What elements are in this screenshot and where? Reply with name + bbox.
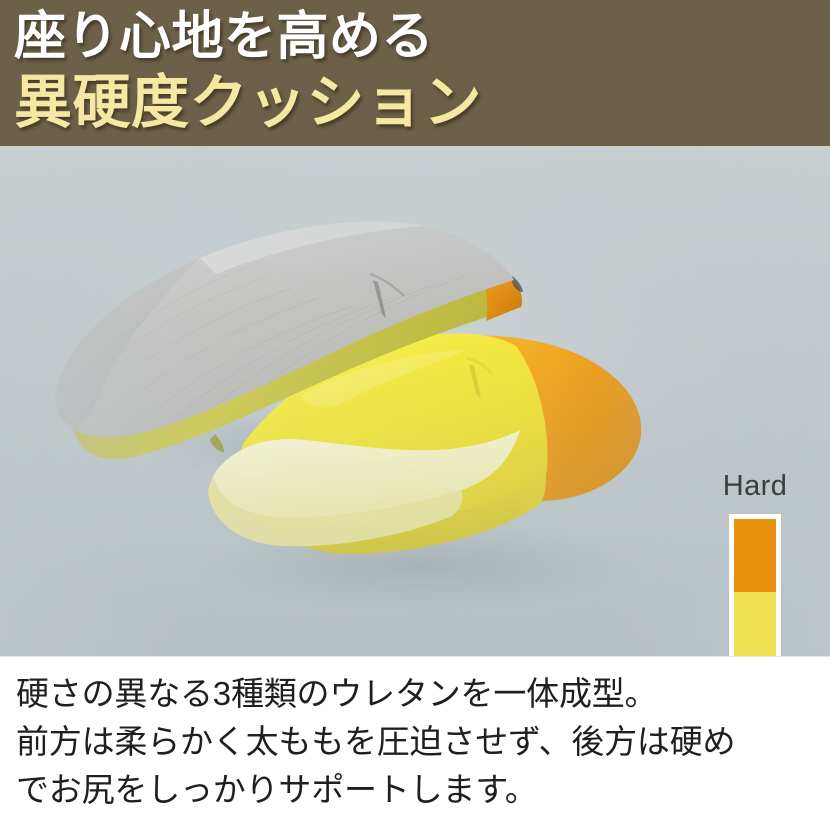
legend-segment-hard bbox=[734, 519, 776, 592]
product-feature-banner: 座り心地を高める 異硬度クッション bbox=[0, 0, 830, 830]
legend-gradient-bar bbox=[729, 514, 781, 656]
product-image-stage: Hard Soft bbox=[0, 146, 830, 656]
legend-label-hard: Hard bbox=[703, 468, 807, 504]
caption-line-3: でお尻をしっかりサポートします。 bbox=[16, 766, 830, 814]
caption-line-1: 硬さの異なる3種類のウレタンを一体成型。 bbox=[16, 670, 830, 718]
hardness-legend: Hard Soft bbox=[703, 468, 807, 656]
legend-segment-medium bbox=[734, 592, 776, 656]
header-title-line-2: 異硬度クッション bbox=[14, 68, 482, 138]
header-band: 座り心地を高める 異硬度クッション bbox=[0, 0, 830, 146]
caption-block: 硬さの異なる3種類のウレタンを一体成型。 前方は柔らかく太ももを圧迫させず、後方… bbox=[0, 656, 830, 830]
caption-line-2: 前方は柔らかく太ももを圧迫させず、後方は硬め bbox=[16, 718, 830, 766]
header-title-line-1: 座り心地を高める bbox=[14, 6, 434, 68]
